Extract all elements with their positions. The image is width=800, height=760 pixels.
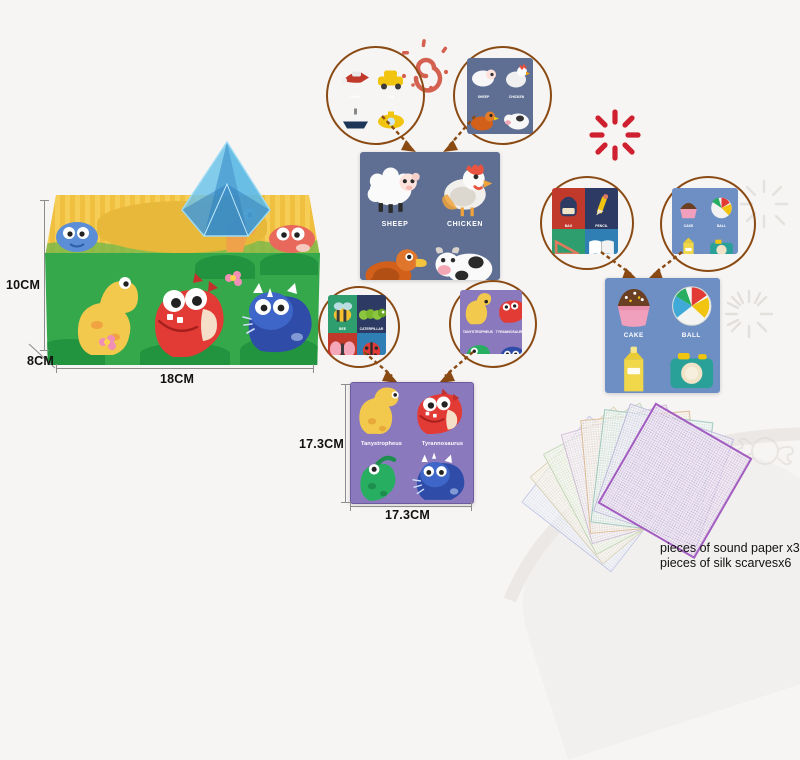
dino-cell-parasaurolophus[interactable]: Parasaurolophus — [351, 450, 412, 504]
transport-cell-plane[interactable]: PLANE — [338, 60, 373, 101]
insects-card[interactable]: BEE CATERPILLAR BUTTERFLY LADYBUG — [328, 295, 386, 355]
sheep-icon — [467, 60, 500, 95]
triceratops-icon — [412, 450, 473, 504]
objects-thumb-ball[interactable]: BALL — [705, 188, 738, 229]
box-width-label: 18CM — [160, 372, 194, 386]
farm-cell-sheep[interactable]: SHEEP — [360, 152, 430, 231]
cake-icon — [605, 278, 663, 332]
ball-icon — [705, 190, 738, 224]
transport-cell-car[interactable]: CAR — [373, 60, 408, 101]
farm-thumb-sheep[interactable]: SHEEP — [467, 58, 500, 101]
caption-line-2: pieces of silk scarvesx6 — [660, 556, 800, 571]
school-cell-bag[interactable]: BAG — [552, 188, 585, 229]
box-front-panel — [45, 253, 320, 365]
label: CAKE — [624, 332, 644, 342]
box-height-label: 10CM — [6, 278, 40, 292]
dinosaurs-card-thumb[interactable]: Tanystropheus Tyrannosaurus Parasaurolop… — [460, 290, 522, 354]
silk-scarves-fan — [530, 405, 790, 555]
camera-icon — [663, 342, 721, 393]
objects-card[interactable]: CAKE BALL — [605, 278, 720, 393]
pencil-icon — [585, 190, 618, 224]
insects-card-grid: BEE CATERPILLAR BUTTERFLY LADYBUG — [328, 295, 386, 355]
caterpillar-icon — [357, 297, 386, 327]
milk-icon — [605, 342, 663, 393]
camera-icon — [705, 231, 738, 254]
tyrannosaurus-icon — [412, 383, 473, 441]
silk-scarf-pulled-out — [170, 140, 285, 252]
dino-cell-tanystropheus[interactable]: Tanystropheus — [351, 383, 412, 450]
transport-cell-ship[interactable]: SHIP — [338, 101, 373, 133]
dino-cell-tyrannosaurus[interactable]: Tyrannosaurus — [412, 383, 473, 450]
flower-icon — [223, 269, 245, 287]
farm-card-grid: SHEEP CHICKEN — [360, 152, 500, 280]
chicken-icon — [430, 159, 500, 221]
dino-thumb-tyrannosaurus[interactable]: Tyrannosaurus — [496, 290, 522, 336]
dinosaur-tissue-box — [45, 195, 320, 370]
ball-icon — [663, 278, 721, 332]
farm-cell-cow[interactable]: COW — [430, 231, 500, 280]
chicken-icon — [500, 60, 533, 95]
bee-icon — [328, 297, 357, 327]
insects-cell-caterpillar[interactable]: CATERPILLAR — [357, 295, 386, 333]
tick — [40, 200, 49, 201]
dino-thumb-grid: Tanystropheus Tyrannosaurus Parasaurolop… — [460, 290, 522, 354]
label: Tyrannosaurus — [422, 441, 463, 450]
cow-icon — [430, 238, 500, 280]
objects-cell-milk[interactable]: MILK — [605, 342, 663, 393]
product-infographic: 10CM 8CM 18CM PLANE CAR — [0, 0, 800, 600]
tick — [471, 502, 472, 511]
objects-thumb-grid: CAKE BALL MILK CAMERA — [672, 188, 738, 254]
objects-cell-ball[interactable]: BALL — [663, 278, 721, 342]
school-card-grid: BAG PENCIL RULER BOOK — [552, 188, 618, 254]
objects-cell-camera[interactable]: CAMERA — [663, 342, 721, 393]
box-height-guide — [44, 200, 45, 350]
duck-icon — [360, 238, 430, 280]
dino-cell-triceratops[interactable]: Triceratops — [412, 450, 473, 504]
blue-triceratops-icon — [241, 275, 319, 355]
objects-thumb-camera[interactable]: CAMERA — [705, 229, 738, 254]
box-width-guide — [56, 368, 314, 369]
plane-icon — [338, 62, 373, 95]
ruler-icon — [552, 231, 585, 254]
label: BALL — [682, 332, 701, 342]
butterfly-icon — [328, 335, 357, 355]
dino-card-grid: Tanystropheus Tyrannosaurus — [351, 383, 473, 503]
car-icon — [373, 62, 408, 95]
tyrannosaurus-icon — [496, 292, 522, 330]
school-cell-pencil[interactable]: PENCIL — [585, 188, 618, 229]
farm-cell-chicken[interactable]: CHICKEN — [430, 152, 500, 231]
flower-icon — [97, 333, 119, 351]
label: Tanystropheus — [361, 441, 402, 450]
card-height-label: 17.3CM — [299, 437, 344, 451]
tick — [341, 384, 350, 385]
insects-cell-bee[interactable]: BEE — [328, 295, 357, 333]
objects-cell-cake[interactable]: CAKE — [605, 278, 663, 342]
farm-cell-duck[interactable]: DUCK — [360, 231, 430, 280]
accessories-caption: pieces of sound paper x3 pieces of silk … — [660, 541, 800, 571]
label: CHICKEN — [447, 221, 483, 231]
card-width-label: 17.3CM — [385, 508, 430, 522]
ship-icon — [338, 103, 373, 133]
card-height-guide — [345, 384, 346, 502]
box-depth-label: 8CM — [27, 354, 54, 368]
triceratops-icon — [496, 338, 522, 354]
farm-thumb-chicken[interactable]: CHICKEN — [500, 58, 533, 101]
blue-dino-top-icon — [53, 215, 101, 255]
tick — [56, 364, 57, 373]
farm-thumb-cow[interactable]: COW — [500, 101, 533, 135]
tanystropheus-icon — [351, 383, 412, 441]
farm-animals-card[interactable]: SHEEP CHICKEN — [360, 152, 500, 280]
objects-card-thumb[interactable]: CAKE BALL MILK CAMERA — [672, 188, 738, 254]
insects-cell-butterfly[interactable]: BUTTERFLY — [328, 333, 357, 355]
bag-icon — [552, 190, 585, 224]
tick — [313, 364, 314, 373]
dinosaurs-card[interactable]: Tanystropheus Tyrannosaurus — [350, 382, 474, 504]
red-starburst-doodle-icon — [587, 107, 643, 163]
sheep-icon — [360, 159, 430, 221]
objects-card-grid: CAKE BALL — [605, 278, 720, 393]
cake-icon — [672, 190, 705, 224]
tick — [350, 502, 351, 511]
tanystropheus-icon — [460, 292, 496, 330]
objects-thumb-cake[interactable]: CAKE — [672, 188, 705, 229]
card-width-guide — [350, 506, 472, 507]
dino-thumb-triceratops[interactable]: Triceratops — [496, 336, 522, 354]
caption-line-1: pieces of sound paper x3 — [660, 541, 800, 556]
school-cell-ruler[interactable]: RULER — [552, 229, 585, 254]
tick — [341, 502, 350, 503]
gray-sparkle-icon — [722, 287, 776, 341]
parasaurolophus-icon — [351, 450, 412, 504]
cow-icon — [500, 103, 533, 135]
label: SHEEP — [382, 221, 409, 231]
school-supplies-card[interactable]: BAG PENCIL RULER BOOK — [552, 188, 618, 254]
dino-thumb-tanystropheus[interactable]: Tanystropheus — [460, 290, 496, 336]
